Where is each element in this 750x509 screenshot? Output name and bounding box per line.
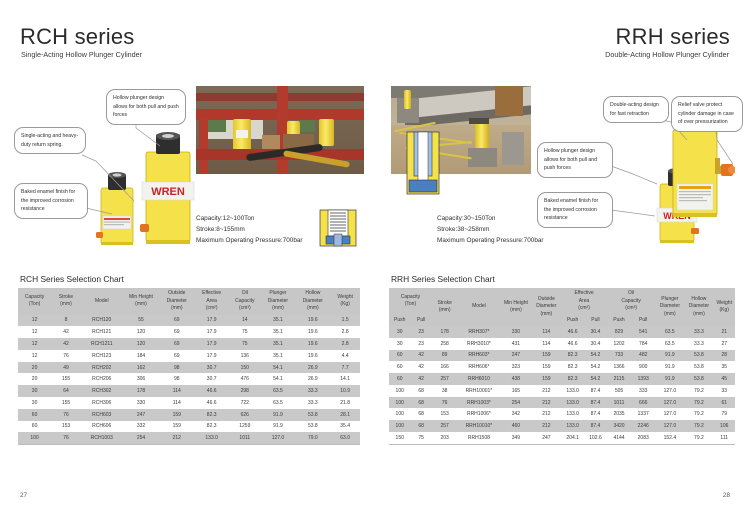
cell: 212 bbox=[531, 420, 561, 432]
rrh-leader-3 bbox=[611, 166, 663, 192]
cell-model: RRH3010* bbox=[457, 338, 500, 350]
cell: 258 bbox=[432, 338, 458, 350]
table-row: 6076RCH60324715982.362691.953.828.1 bbox=[18, 409, 360, 421]
cell: 127.0 bbox=[655, 420, 684, 432]
cell: 114 bbox=[159, 385, 194, 397]
cell: 12 bbox=[18, 350, 51, 362]
cell: 42 bbox=[410, 373, 431, 385]
rch-spec-pressure: Maximum Operating Pressure:700bar bbox=[196, 237, 303, 244]
rch-chart-title: RCH Series Selection Chart bbox=[20, 274, 124, 284]
cell: 165 bbox=[500, 385, 531, 397]
cell: 42 bbox=[410, 361, 431, 373]
cell: 75 bbox=[229, 338, 260, 350]
cell: 79.2 bbox=[684, 397, 713, 409]
rch-col-header-4: OutsideDiameter(mm) bbox=[159, 288, 194, 315]
rrh-spec-capacity: Capacity:30~150Ton bbox=[437, 215, 495, 222]
cell: 666 bbox=[631, 397, 655, 409]
cell: 60 bbox=[389, 350, 410, 362]
cell: 342 bbox=[500, 408, 531, 420]
cell: 733 bbox=[607, 350, 631, 362]
cell: 46.6 bbox=[194, 397, 229, 409]
cell: 91.9 bbox=[655, 361, 684, 373]
rrh-col-header-7: PlungerDiameter(mm) bbox=[655, 288, 684, 326]
cell-model: RRH606* bbox=[457, 361, 500, 373]
left-page-number: 27 bbox=[20, 492, 27, 499]
cell: 17.9 bbox=[194, 315, 229, 327]
rrh-col-header-6: OilCapacity(cm³) bbox=[607, 288, 655, 315]
cell: 33.3 bbox=[295, 397, 330, 409]
cell-model: RCH1211 bbox=[81, 338, 123, 350]
cell-model: RCH123 bbox=[81, 350, 123, 362]
cell: 257 bbox=[432, 420, 458, 432]
rch-table-body: 128RCH120556917.91435.119.61.51242RCH121… bbox=[18, 315, 360, 445]
cell-model: RCH1003 bbox=[81, 432, 123, 444]
rrh-spec-pressure: Maximum Operating Pressure:700bar bbox=[437, 237, 544, 244]
cell: 212 bbox=[531, 385, 561, 397]
cell: 82.3 bbox=[561, 361, 584, 373]
rrh-table-body: 3023178RRH307*33011446.630.482954163.533… bbox=[389, 326, 735, 444]
cell: 23 bbox=[410, 338, 431, 350]
rch-col-header-8: HollowDiameter(mm) bbox=[295, 288, 330, 315]
cell: 82.3 bbox=[561, 373, 584, 385]
rch-leader-3 bbox=[86, 200, 118, 222]
cell: 349 bbox=[500, 432, 531, 444]
cell: 35.1 bbox=[261, 326, 296, 338]
cell: 35.1 bbox=[261, 315, 296, 327]
cell: 153 bbox=[432, 408, 458, 420]
cell: 12 bbox=[18, 338, 51, 350]
cell: 247 bbox=[123, 409, 160, 421]
cell-model: RCH603 bbox=[81, 409, 123, 421]
cell: 127.0 bbox=[655, 408, 684, 420]
rch-callout-baked-enamel: Baked enamel finish for the improved cor… bbox=[14, 183, 88, 219]
cell: 10.9 bbox=[330, 385, 360, 397]
rrh-col-header-9: Weight(Kg) bbox=[713, 288, 735, 326]
rrh-col-header-4: OutsideDiameter(mm) bbox=[531, 288, 561, 326]
cell: 21 bbox=[713, 326, 735, 338]
cell: 68 bbox=[410, 385, 431, 397]
cell: 98 bbox=[159, 362, 194, 374]
cell: 306 bbox=[123, 373, 160, 385]
cell: 54.1 bbox=[261, 373, 296, 385]
cell: 30 bbox=[18, 385, 51, 397]
rch-col-header-6: OilCapacity(cm³) bbox=[229, 288, 260, 315]
cell: 42 bbox=[51, 326, 81, 338]
cell: 102.6 bbox=[584, 432, 607, 444]
rch-selection-table: Capacity(Ton)Stroke(mm)ModelMin Height(m… bbox=[18, 288, 360, 445]
rch-spec-stroke: Stroke:8~155mm bbox=[196, 226, 245, 233]
cell: 19.6 bbox=[295, 350, 330, 362]
cell: 63.0 bbox=[330, 432, 360, 444]
rrh-subtitle: Double-Acting Hollow Plunger Cylinder bbox=[605, 50, 729, 59]
table-row: 1242RCH1211206917.97535.119.62.8 bbox=[18, 326, 360, 338]
rch-application-photo bbox=[196, 86, 364, 174]
cell: 55 bbox=[123, 315, 160, 327]
cell: 33 bbox=[713, 385, 735, 397]
cell: 203 bbox=[432, 432, 458, 444]
cell: 127.0 bbox=[261, 432, 296, 444]
cell: 30 bbox=[18, 397, 51, 409]
cell: 4.4 bbox=[330, 350, 360, 362]
cell-model: RRH10010* bbox=[457, 420, 500, 432]
rrh-subheader-5-1: Pull bbox=[584, 315, 607, 327]
cell: 60 bbox=[389, 373, 410, 385]
cell: 298 bbox=[229, 385, 260, 397]
cell-model: RRH307* bbox=[457, 326, 500, 338]
rrh-title: RRH series bbox=[616, 24, 730, 50]
cell: 69 bbox=[159, 338, 194, 350]
svg-text:WREN: WREN bbox=[151, 186, 185, 198]
rrh-subheader-6-0: Push bbox=[607, 315, 631, 327]
cell: 19.6 bbox=[295, 326, 330, 338]
cell: 247 bbox=[500, 350, 531, 362]
cell: 35.4 bbox=[330, 421, 360, 433]
cell: 68 bbox=[410, 408, 431, 420]
cell: 75 bbox=[410, 432, 431, 444]
cell: 60 bbox=[18, 409, 51, 421]
rrh-chart-title: RRH Series Selection Chart bbox=[391, 274, 495, 284]
rrh-col-header-3: Min Height(mm) bbox=[500, 288, 531, 326]
cell: 79.2 bbox=[684, 385, 713, 397]
cell: 30.7 bbox=[194, 362, 229, 374]
cell: 69 bbox=[159, 350, 194, 362]
cell: 53.8 bbox=[295, 409, 330, 421]
cell: 30 bbox=[389, 326, 410, 338]
cell: 133.0 bbox=[561, 408, 584, 420]
table-row: 128RCH120556917.91435.119.61.5 bbox=[18, 315, 360, 327]
table-row: 6042166RRH606*32315982.354.2136690091.95… bbox=[389, 361, 735, 373]
cell: 33.3 bbox=[295, 385, 330, 397]
cell: 784 bbox=[631, 338, 655, 350]
cell: 184 bbox=[123, 350, 160, 362]
cell: 133.0 bbox=[561, 420, 584, 432]
cell: 35.1 bbox=[261, 350, 296, 362]
table-row: 10068153RRH1006*342212133.087.4203513371… bbox=[389, 408, 735, 420]
rrh-subheader-0-0: Push bbox=[389, 315, 410, 327]
rch-section: RCH series Single-Acting Hollow Plunger … bbox=[0, 0, 375, 509]
cell: 14.1 bbox=[330, 373, 360, 385]
cell: 54.2 bbox=[584, 361, 607, 373]
cell: 82.3 bbox=[194, 421, 229, 433]
rrh-col-header-8: HollowDiameter(mm) bbox=[684, 288, 713, 326]
cell: 28 bbox=[713, 350, 735, 362]
cell: 54.2 bbox=[584, 350, 607, 362]
cell: 20 bbox=[18, 373, 51, 385]
cell: 159 bbox=[531, 361, 561, 373]
cell: 49 bbox=[51, 362, 81, 374]
cell: 722 bbox=[229, 397, 260, 409]
rrh-callout-baked-enamel: Baked enamel finish for the improved cor… bbox=[537, 192, 613, 228]
cell: 332 bbox=[123, 421, 160, 433]
cell: 75 bbox=[229, 326, 260, 338]
cell: 35 bbox=[713, 361, 735, 373]
cell: 460 bbox=[500, 420, 531, 432]
cell: 53.8 bbox=[684, 373, 713, 385]
cell: 76 bbox=[432, 397, 458, 409]
cell-model: RCH202 bbox=[81, 362, 123, 374]
cell: 76 bbox=[51, 350, 81, 362]
cell: 7.7 bbox=[330, 362, 360, 374]
cell: 61 bbox=[713, 397, 735, 409]
cell: 53.8 bbox=[684, 350, 713, 362]
rch-col-header-2: Model bbox=[81, 288, 123, 315]
cell: 30.7 bbox=[194, 373, 229, 385]
cell: 30 bbox=[389, 338, 410, 350]
cell: 69 bbox=[159, 315, 194, 327]
rrh-selection-table: Capacity(Ton)Stroke(mm)ModelMin Height(m… bbox=[389, 288, 735, 445]
cell: 79.2 bbox=[684, 432, 713, 444]
cell: 17.9 bbox=[194, 338, 229, 350]
cell: 87.4 bbox=[584, 420, 607, 432]
cell: 254 bbox=[123, 432, 160, 444]
cell: 69 bbox=[159, 326, 194, 338]
cell: 431 bbox=[500, 338, 531, 350]
cell: 159 bbox=[531, 350, 561, 362]
cell: 63.5 bbox=[655, 326, 684, 338]
cell: 91.9 bbox=[655, 373, 684, 385]
rrh-section: RRH series Double-Acting Hollow Plunger … bbox=[375, 0, 750, 509]
rch-cutaway-diagram bbox=[318, 208, 358, 248]
rrh-cutaway-diagram bbox=[403, 130, 443, 196]
rch-callout-single-acting: Single-acting and heavy-duty return spri… bbox=[14, 127, 86, 154]
table-row: 3023178RRH307*33011446.630.482954163.533… bbox=[389, 326, 735, 338]
cell: 53.8 bbox=[295, 421, 330, 433]
cell: 68 bbox=[410, 397, 431, 409]
cell: 42 bbox=[410, 350, 431, 362]
cell: 204.1 bbox=[561, 432, 584, 444]
cell-model: RRH6010 bbox=[457, 373, 500, 385]
cell: 82.3 bbox=[561, 350, 584, 362]
cell: 19.6 bbox=[295, 315, 330, 327]
cell-model: RRH1006* bbox=[457, 408, 500, 420]
cell: 79.0 bbox=[295, 432, 330, 444]
cell: 3420 bbox=[607, 420, 631, 432]
cell: 1202 bbox=[607, 338, 631, 350]
cell: 1366 bbox=[607, 361, 631, 373]
table-row: 1242RCH12111206917.97535.119.62.8 bbox=[18, 338, 360, 350]
cell: 247 bbox=[531, 432, 561, 444]
cell: 100 bbox=[389, 385, 410, 397]
table-row: 10076RCH1003254212133.01011127.079.063.0 bbox=[18, 432, 360, 444]
cell: 114 bbox=[531, 326, 561, 338]
cell: 46.6 bbox=[194, 385, 229, 397]
cell: 17.9 bbox=[194, 350, 229, 362]
cell: 8 bbox=[51, 315, 81, 327]
table-row: 3023258RRH3010*43111446.630.4120278463.5… bbox=[389, 338, 735, 350]
cell: 1.5 bbox=[330, 315, 360, 327]
rrh-col-header-2: Model bbox=[457, 288, 500, 326]
cell: 212 bbox=[531, 397, 561, 409]
cell: 505 bbox=[607, 385, 631, 397]
cell: 155 bbox=[51, 397, 81, 409]
cell: 254 bbox=[500, 397, 531, 409]
table-row: 30155RCH30633011446.672263.533.321.8 bbox=[18, 397, 360, 409]
cell-model: RRH10001* bbox=[457, 385, 500, 397]
cell: 900 bbox=[631, 361, 655, 373]
cell: 120 bbox=[123, 326, 160, 338]
cell: 162 bbox=[123, 362, 160, 374]
cell: 87.4 bbox=[584, 397, 607, 409]
cell: 1011 bbox=[607, 397, 631, 409]
cell-model: RCH121 bbox=[81, 326, 123, 338]
cell: 1337 bbox=[631, 408, 655, 420]
cell: 133.0 bbox=[561, 397, 584, 409]
cell: 100 bbox=[389, 408, 410, 420]
cell: 76 bbox=[51, 432, 81, 444]
cell: 30.4 bbox=[584, 326, 607, 338]
cell: 60 bbox=[389, 361, 410, 373]
cell: 438 bbox=[500, 373, 531, 385]
cell: 82.3 bbox=[194, 409, 229, 421]
cell: 87.4 bbox=[584, 408, 607, 420]
cell: 91.9 bbox=[261, 409, 296, 421]
cell: 23 bbox=[410, 326, 431, 338]
cell: 323 bbox=[500, 361, 531, 373]
cell: 1393 bbox=[631, 373, 655, 385]
cell: 114 bbox=[531, 338, 561, 350]
cell: 150 bbox=[389, 432, 410, 444]
cell: 46.6 bbox=[561, 338, 584, 350]
cell-model: RRH1003* bbox=[457, 397, 500, 409]
cell: 4144 bbox=[607, 432, 631, 444]
cell-model: RCH206 bbox=[81, 373, 123, 385]
rrh-subheader-6-1: Pull bbox=[631, 315, 655, 327]
cell: 45 bbox=[713, 373, 735, 385]
table-row: 10068257RRH10010*460212133.087.434202246… bbox=[389, 420, 735, 432]
rch-col-header-7: PlungerDiameter(mm) bbox=[261, 288, 296, 315]
cell: 330 bbox=[123, 397, 160, 409]
cell: 2.8 bbox=[330, 326, 360, 338]
cell: 100 bbox=[18, 432, 51, 444]
cell: 133.0 bbox=[561, 385, 584, 397]
cell: 120 bbox=[123, 338, 160, 350]
cell: 12 bbox=[18, 326, 51, 338]
cell: 212 bbox=[531, 408, 561, 420]
cell: 114 bbox=[159, 397, 194, 409]
rrh-callout-hollow-plunger: Hollow plunger design allows for both pu… bbox=[537, 142, 613, 178]
rrh-callout-relief-valve: Relief valve protect cylinder damage in … bbox=[671, 96, 743, 132]
cell-model: RCH606 bbox=[81, 421, 123, 433]
rrh-col-header-0: Capacity(Ton) bbox=[389, 288, 432, 315]
cell: 68 bbox=[410, 420, 431, 432]
cell: 2115 bbox=[607, 373, 631, 385]
cell: 2083 bbox=[631, 432, 655, 444]
table-row: 20155RCH2063069830.747654.126.914.1 bbox=[18, 373, 360, 385]
cell: 152.4 bbox=[655, 432, 684, 444]
rrh-subheader-5-0: Push bbox=[561, 315, 584, 327]
cell: 178 bbox=[123, 385, 160, 397]
cell: 35.1 bbox=[261, 338, 296, 350]
table-row: 6042257RRH601043815982.354.22115139391.9… bbox=[389, 373, 735, 385]
table-row: 2049RCH2021629830.715054.126.97.7 bbox=[18, 362, 360, 374]
cell: 33.3 bbox=[684, 326, 713, 338]
cell: 38 bbox=[432, 385, 458, 397]
cell: 2.8 bbox=[330, 338, 360, 350]
cell: 21.8 bbox=[330, 397, 360, 409]
table-row: 3064RCH30217811446.629863.533.310.9 bbox=[18, 385, 360, 397]
cell: 333 bbox=[631, 385, 655, 397]
rch-col-header-3: Min Height(mm) bbox=[123, 288, 160, 315]
cell: 19.6 bbox=[295, 338, 330, 350]
cell-model: RCH120 bbox=[81, 315, 123, 327]
cell: 257 bbox=[432, 373, 458, 385]
cell: 63.5 bbox=[261, 397, 296, 409]
cell: 2246 bbox=[631, 420, 655, 432]
cell: 100 bbox=[389, 420, 410, 432]
cell: 98 bbox=[159, 373, 194, 385]
cell: 79.2 bbox=[684, 408, 713, 420]
cell: 212 bbox=[159, 432, 194, 444]
rch-subtitle: Single-Acting Hollow Plunger Cylinder bbox=[21, 50, 142, 59]
rrh-col-header-5: EffectiveArea(cm²) bbox=[561, 288, 607, 315]
table-row: 604289RRH603*24715982.354.273348291.953.… bbox=[389, 350, 735, 362]
rrh-header-row-top: Capacity(Ton)Stroke(mm)ModelMin Height(m… bbox=[389, 288, 735, 315]
cell: 1259 bbox=[229, 421, 260, 433]
cell: 42 bbox=[51, 338, 81, 350]
cell: 53.8 bbox=[684, 361, 713, 373]
cell: 63.5 bbox=[655, 338, 684, 350]
rrh-leader-4 bbox=[611, 206, 661, 226]
table-row: 1276RCH1231846917.913635.119.64.4 bbox=[18, 350, 360, 362]
cell: 482 bbox=[631, 350, 655, 362]
rch-title: RCH series bbox=[20, 24, 134, 50]
cell: 166 bbox=[432, 361, 458, 373]
rch-callout-hollow-plunger: Hollow plunger design allows for both pu… bbox=[106, 89, 186, 125]
cell: 150 bbox=[229, 362, 260, 374]
cell: 17.9 bbox=[194, 326, 229, 338]
cell-model: RRH603* bbox=[457, 350, 500, 362]
cell: 30.4 bbox=[584, 338, 607, 350]
cell: 20 bbox=[18, 362, 51, 374]
rch-col-header-5: EffectiveArea(cm²) bbox=[194, 288, 229, 315]
rrh-col-header-1: Stroke(mm) bbox=[432, 288, 458, 326]
rch-cylinder-large-illustration: WREN bbox=[140, 132, 196, 247]
cell: 159 bbox=[531, 373, 561, 385]
rrh-spec-stroke: Stroke:38~258mm bbox=[437, 226, 489, 233]
cell: 27 bbox=[713, 338, 735, 350]
cell: 133.0 bbox=[194, 432, 229, 444]
cell: 2035 bbox=[607, 408, 631, 420]
cell: 106 bbox=[713, 420, 735, 432]
cell: 46.6 bbox=[561, 326, 584, 338]
table-row: 1006876RRH1003*254212133.087.41011666127… bbox=[389, 397, 735, 409]
cell: 91.9 bbox=[261, 421, 296, 433]
cell: 28.1 bbox=[330, 409, 360, 421]
cell: 76 bbox=[51, 409, 81, 421]
cell: 153 bbox=[51, 421, 81, 433]
page-divider bbox=[374, 0, 375, 509]
cell: 127.0 bbox=[655, 397, 684, 409]
cell: 100 bbox=[389, 397, 410, 409]
cell: 63.5 bbox=[261, 385, 296, 397]
rrh-callout-double-acting: Double-acting design for fast retraction bbox=[603, 96, 669, 123]
cell: 476 bbox=[229, 373, 260, 385]
cell: 178 bbox=[432, 326, 458, 338]
cell: 1011 bbox=[229, 432, 260, 444]
right-page-number: 28 bbox=[723, 492, 730, 499]
table-row: 15075203RRH1508349247204.1102.6414420831… bbox=[389, 432, 735, 444]
cell: 541 bbox=[631, 326, 655, 338]
cell: 79.2 bbox=[684, 420, 713, 432]
rch-spec-capacity: Capacity:12~100Ton bbox=[196, 215, 254, 222]
table-row: 60153RCH60633215982.3125991.953.835.4 bbox=[18, 421, 360, 433]
cell: 91.9 bbox=[655, 350, 684, 362]
cell: 155 bbox=[51, 373, 81, 385]
cell: 26.9 bbox=[295, 362, 330, 374]
cell: 136 bbox=[229, 350, 260, 362]
cell: 64 bbox=[51, 385, 81, 397]
cell: 159 bbox=[159, 409, 194, 421]
